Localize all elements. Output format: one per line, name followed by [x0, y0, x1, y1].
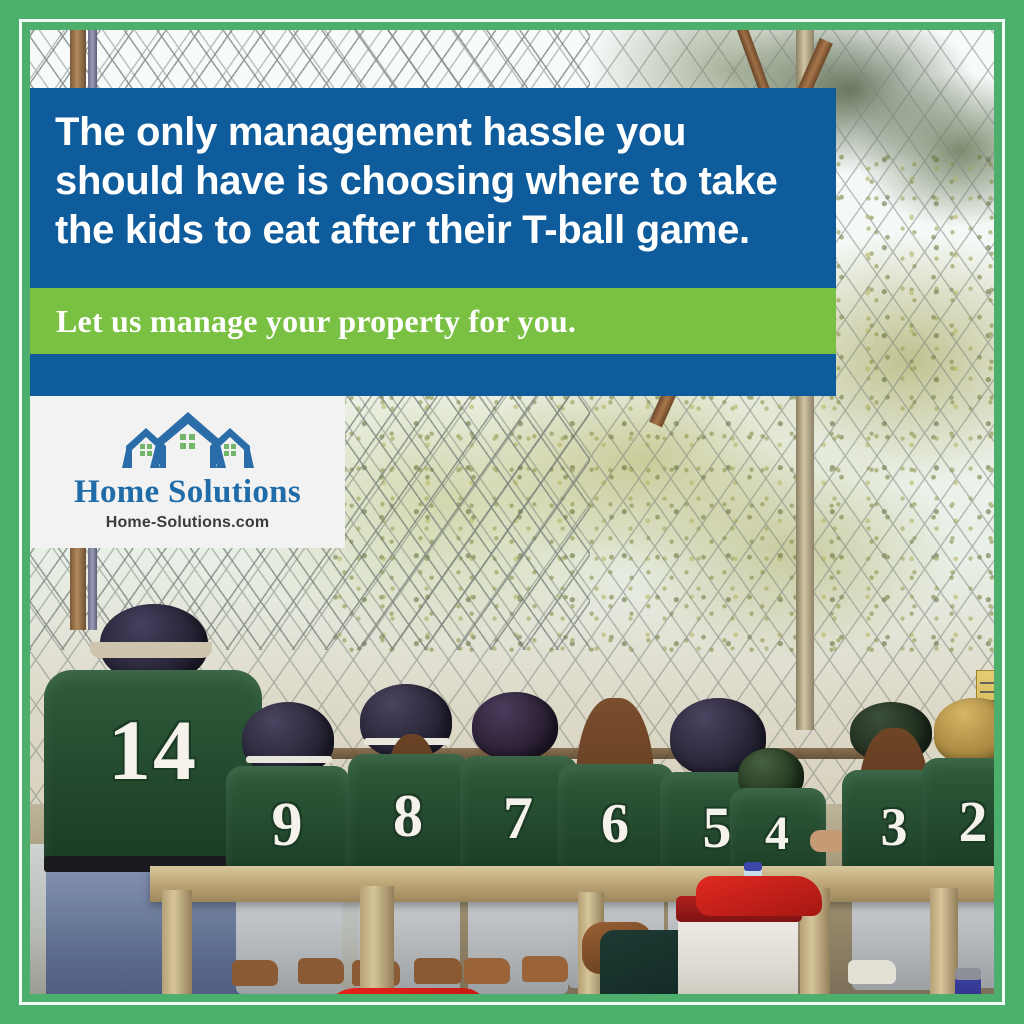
jersey-number: 9: [226, 790, 350, 861]
player-shoe: [414, 958, 462, 984]
player-jersey: 2: [922, 758, 994, 880]
player-shoe: [522, 956, 568, 982]
red-cloth: [696, 876, 822, 916]
company-website: Home-Solutions.com: [30, 514, 345, 532]
company-name: Home Solutions: [30, 474, 345, 511]
bench-leg: [930, 888, 958, 994]
bench-leg: [162, 890, 192, 994]
player-arm: [810, 830, 846, 852]
player-jersey: 6: [558, 764, 674, 882]
jersey-number: 8: [348, 782, 470, 851]
wooden-bench: [150, 866, 994, 902]
jersey-number: 2: [922, 788, 994, 855]
player-jersey: 8: [348, 754, 470, 880]
coach-cap-brim: [90, 642, 212, 658]
blue-accent-bar: [30, 354, 836, 396]
player-shoe: [464, 958, 510, 984]
three-houses-icon: [108, 410, 268, 472]
player-shoe: [232, 960, 278, 986]
player-head: [472, 692, 558, 760]
bench-leg: [360, 886, 394, 994]
water-bottle-cap: [744, 862, 762, 871]
tagline-text: Let us manage your property for you.: [56, 298, 816, 344]
batting-helmet: [242, 702, 334, 776]
player-head: [934, 698, 994, 764]
jersey-number: 6: [558, 792, 674, 856]
player-shoe: [848, 960, 896, 984]
red-cloth-ground: [320, 988, 490, 994]
poster-canvas: 14 9 8: [0, 0, 1024, 1024]
logo-card: Home Solutions Home-Solutions.com: [30, 396, 345, 548]
water-bottle-right-cap: [955, 968, 981, 980]
helmet-strap: [246, 756, 332, 763]
player-shoe: [298, 958, 344, 984]
headline-text: The only management hassle you should ha…: [55, 108, 805, 255]
